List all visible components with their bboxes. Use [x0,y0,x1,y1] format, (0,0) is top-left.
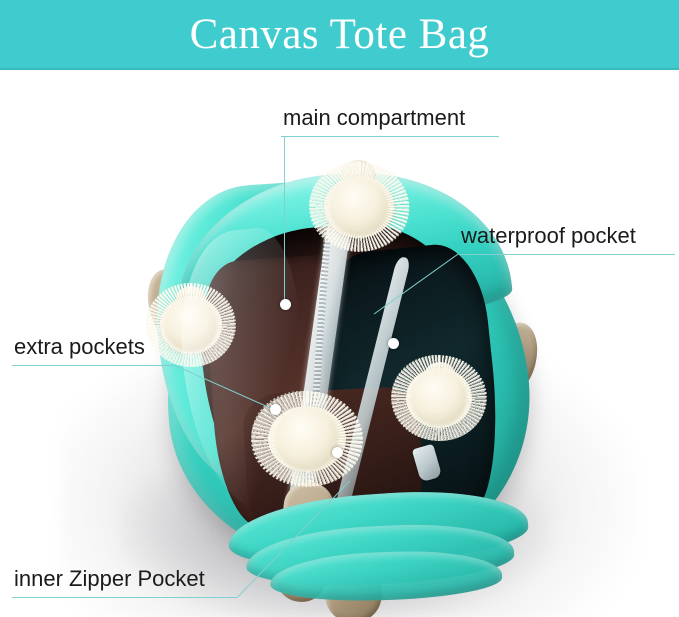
callout-dot-inner-zipper-pocket [332,447,343,458]
callout-leader-main-compartment [284,136,285,306]
product-infographic: Canvas Tote Bag [0,0,679,617]
callout-underline-main-compartment [281,136,499,137]
callout-label-waterproof-pocket: waterproof pocket [461,223,636,248]
callout-underline-extra-pockets [12,365,175,366]
callout-underline-inner-zipper-pocket [12,597,237,598]
tassel-left [160,296,222,354]
product-photo: main compartment waterproof pocket extra… [0,70,679,617]
tote-bag-illustration [128,90,558,610]
callout-dot-main-compartment [280,299,291,310]
callout-dot-extra-pockets [270,404,281,415]
callout-label-extra-pockets: extra pockets [14,334,145,359]
callout-underline-waterproof-pocket [459,254,675,255]
callout-dot-waterproof-pocket [388,338,399,349]
tassel-bottom [268,406,346,472]
page-title: Canvas Tote Bag [190,13,490,56]
tassel-right [406,368,472,428]
header-banner: Canvas Tote Bag [0,0,679,70]
callout-label-main-compartment: main compartment [283,105,465,130]
tassel-top [324,176,394,238]
callout-label-inner-zipper-pocket: inner Zipper Pocket [14,566,205,591]
